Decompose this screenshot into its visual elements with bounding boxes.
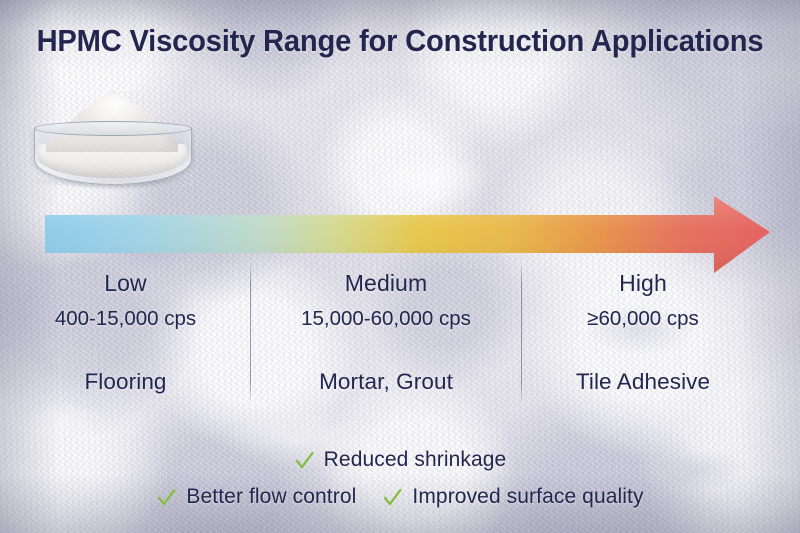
benefit-label: Reduced shrinkage [324, 448, 507, 472]
check-icon [382, 487, 403, 508]
check-icon [294, 450, 315, 471]
arrow-sheen [45, 196, 770, 273]
benefit-label: Better flow control [186, 485, 356, 509]
page-title: HPMC Viscosity Range for Construction Ap… [18, 24, 782, 59]
tier-label-high: High [532, 270, 754, 297]
infographic-canvas: HPMC Viscosity Range for Construction Ap… [0, 0, 800, 533]
hpmc-powder-dish-image [26, 88, 198, 188]
viscosity-columns: Low 400-15,000 cps Flooring Medium 15,00… [0, 270, 800, 410]
benefit-better-flow-control: Better flow control [156, 485, 356, 509]
application-medium: Mortar, Grout [262, 369, 510, 395]
glass-dish-rim [34, 121, 192, 136]
viscosity-range-medium: 15,000-60,000 cps [262, 307, 510, 331]
viscosity-gradient-arrow [0, 190, 800, 280]
application-low: Flooring [18, 369, 233, 395]
tier-label-low: Low [18, 270, 233, 297]
check-icon [156, 487, 177, 508]
benefits-row-1: Reduced shrinkage [0, 448, 800, 472]
viscosity-range-high: ≥60,000 cps [532, 307, 754, 331]
benefit-label: Improved surface quality [412, 485, 643, 509]
benefits-row-2: Better flow control Improved surface qua… [0, 485, 800, 509]
benefit-improved-surface-quality: Improved surface quality [382, 485, 643, 509]
application-high: Tile Adhesive [532, 369, 754, 395]
benefit-reduced-shrinkage: Reduced shrinkage [294, 448, 507, 472]
benefits-list: Reduced shrinkage Better flow control Im… [0, 448, 800, 524]
tier-label-medium: Medium [262, 270, 510, 297]
viscosity-range-low: 400-15,000 cps [18, 307, 233, 331]
